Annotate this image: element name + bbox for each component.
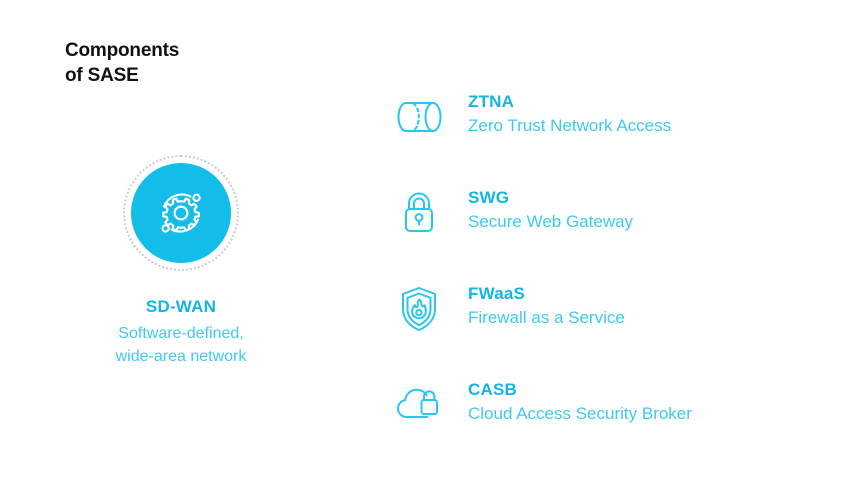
page-title: Components of SASE <box>65 38 365 89</box>
component-name-ztna: Zero Trust Network Access <box>468 114 671 139</box>
page-title-line-2: of SASE <box>65 63 365 88</box>
component-text-fwaas: FWaaS Firewall as a Service <box>468 282 625 331</box>
padlock-icon <box>392 184 446 242</box>
sd-wan-badge-ring <box>123 155 239 271</box>
component-abbr-fwaas: FWaaS <box>468 283 625 304</box>
component-abbr-casb: CASB <box>468 379 692 400</box>
sd-wan-badge-disc <box>131 163 231 263</box>
component-row-swg[interactable]: SWG Secure Web Gateway <box>392 186 852 282</box>
gear-network-icon <box>150 182 212 244</box>
cloud-lock-icon <box>392 376 446 434</box>
component-name-swg: Secure Web Gateway <box>468 210 633 235</box>
component-name-fwaas: Firewall as a Service <box>468 306 625 331</box>
component-row-ztna[interactable]: ZTNA Zero Trust Network Access <box>392 90 852 186</box>
sd-wan-block: SD-WAN Software-defined, wide-area netwo… <box>66 155 296 368</box>
component-text-ztna: ZTNA Zero Trust Network Access <box>468 90 671 139</box>
component-name-casb: Cloud Access Security Broker <box>468 402 692 427</box>
tunnel-cylinder-icon <box>392 88 446 146</box>
component-abbr-swg: SWG <box>468 187 633 208</box>
component-text-casb: CASB Cloud Access Security Broker <box>468 378 692 427</box>
sd-wan-description-line-2: wide-area network <box>66 346 296 369</box>
sd-wan-description-line-1: Software-defined, <box>66 323 296 346</box>
component-abbr-ztna: ZTNA <box>468 91 671 112</box>
sd-wan-description: Software-defined, wide-area network <box>66 323 296 368</box>
slide-canvas: Components of SASE <box>0 0 868 488</box>
sd-wan-abbr: SD-WAN <box>66 297 296 317</box>
components-list: ZTNA Zero Trust Network Access SWG Secur… <box>392 90 852 474</box>
component-row-casb[interactable]: CASB Cloud Access Security Broker <box>392 378 852 474</box>
component-text-swg: SWG Secure Web Gateway <box>468 186 633 235</box>
shield-flame-icon <box>392 280 446 338</box>
page-title-line-1: Components <box>65 38 365 63</box>
component-row-fwaas[interactable]: FWaaS Firewall as a Service <box>392 282 852 378</box>
